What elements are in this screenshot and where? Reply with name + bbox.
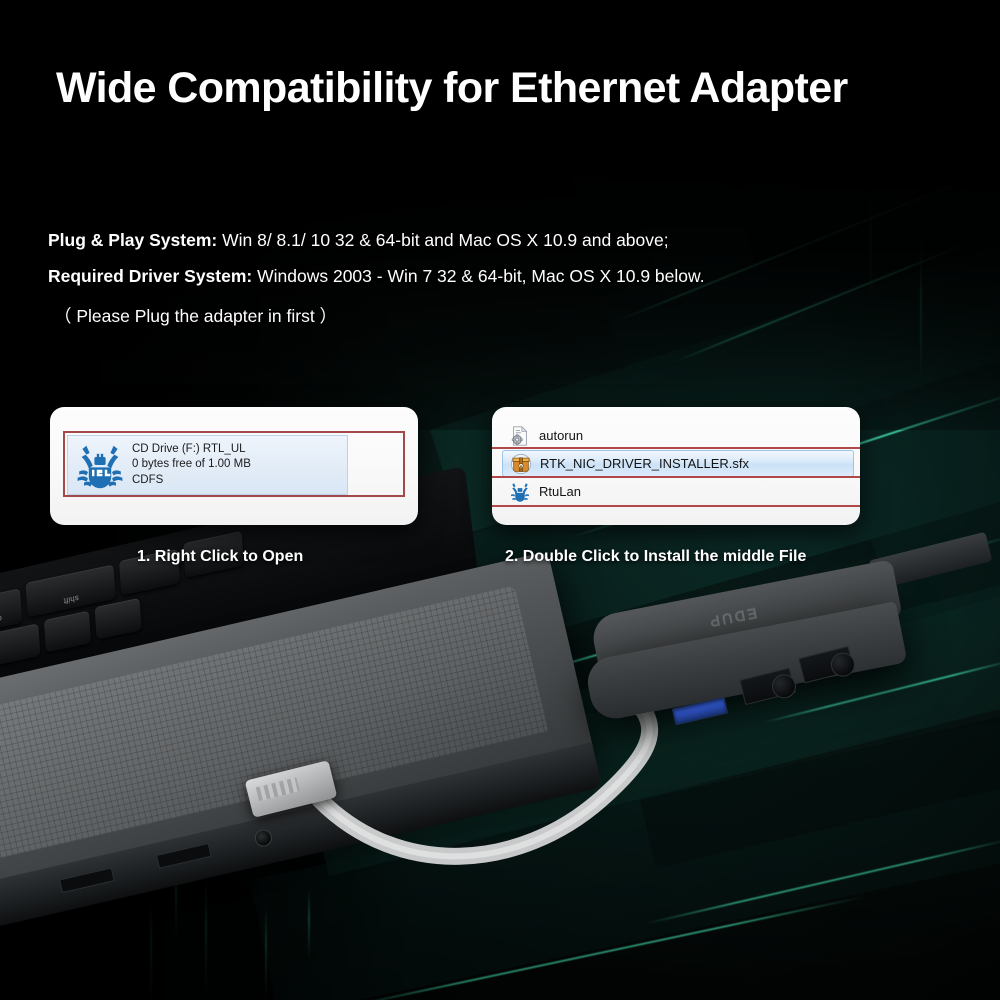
cd-drive-space: 0 bytes free of 1.00 MB (132, 457, 251, 472)
page-title: Wide Compatibility for Ethernet Adapter (56, 64, 848, 113)
file-name-rtk-installer: RTK_NIC_DRIVER_INSTALLER.sfx (540, 456, 749, 471)
file-row-rtk-installer[interactable]: RTK_NIC_DRIVER_INSTALLER.sfx (502, 450, 854, 477)
cd-drive-panel: CD Drive (F:) RTL_UL 0 bytes free of 1.0… (50, 407, 418, 525)
caption-step-two: 2. Double Click to Install the middle Fi… (505, 548, 806, 566)
spec-value-plug-play: Win 8/ 8.1/ 10 32 & 64-bit and Mac OS X … (217, 230, 668, 250)
realtek-crab-icon (74, 441, 126, 489)
caption-step-one: 1. Right Click to Open (137, 548, 303, 566)
file-row-autorun[interactable]: autorun (492, 421, 860, 450)
driver-file-list-panel: autorun RTK_NIC_DRIVER_INSTALLER.sfx (492, 407, 860, 525)
marker-line (492, 447, 860, 449)
cd-drive-text-group: CD Drive (F:) RTL_UL 0 bytes free of 1.0… (132, 442, 251, 488)
config-file-icon (509, 425, 531, 447)
cd-drive-filesystem: CDFS (132, 473, 251, 488)
file-name-rtulan: RtuLan (539, 484, 581, 499)
spec-line-plug-play: Plug & Play System: Win 8/ 8.1/ 10 32 & … (48, 232, 878, 250)
spec-label-required-driver: Required Driver System: (48, 266, 252, 286)
spec-line-required-driver: Required Driver System: Windows 2003 - W… (48, 268, 878, 286)
file-name-autorun: autorun (539, 428, 583, 443)
cd-drive-highlight-outline: CD Drive (F:) RTL_UL 0 bytes free of 1.0… (63, 431, 405, 497)
product-infographic-page: tab caps lock shift EDUP Wide Comp (0, 0, 1000, 1000)
marker-line (492, 505, 860, 507)
compatibility-spec-block: Plug & Play System: Win 8/ 8.1/ 10 32 & … (48, 232, 878, 328)
file-row-rtulan[interactable]: RtuLan (492, 477, 860, 506)
marker-line (492, 476, 860, 478)
file-list: autorun RTK_NIC_DRIVER_INSTALLER.sfx (492, 421, 860, 506)
cd-drive-name: CD Drive (F:) RTL_UL (132, 442, 251, 457)
spec-note: （ Please Plug the adapter in first ） (48, 303, 878, 328)
realtek-crab-icon (509, 481, 531, 503)
sfx-archive-icon (510, 453, 532, 475)
spec-label-plug-play: Plug & Play System: (48, 230, 217, 250)
cd-drive-list-item[interactable]: CD Drive (F:) RTL_UL 0 bytes free of 1.0… (67, 435, 348, 495)
spec-value-required-driver: Windows 2003 - Win 7 32 & 64-bit, Mac OS… (252, 266, 704, 286)
overlay-content: Wide Compatibility for Ethernet Adapter … (0, 0, 1000, 1000)
